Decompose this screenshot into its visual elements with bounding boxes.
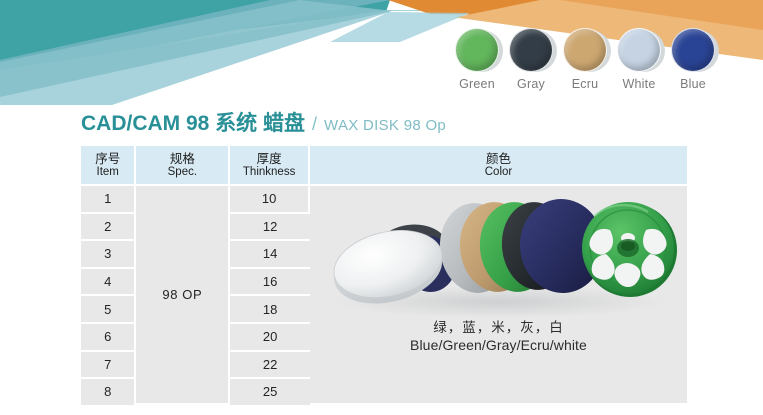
swatch-green[interactable]: Green (450, 28, 504, 91)
color-caption-cn: 绿，蓝，米，灰，白 (310, 320, 687, 337)
cell-item: 3 (81, 241, 136, 269)
page-title-en: WAX DISK 98 Op (324, 117, 446, 134)
product-spec-slide: Green Gray Ecru White (0, 0, 763, 415)
cell-item: 7 (81, 352, 136, 380)
table-header: 序号 Item 规格 Spec. 厚度 Thinkness 颜色 Color (81, 146, 687, 186)
swatch-white[interactable]: White (612, 28, 666, 91)
cell-item: 8 (81, 379, 136, 405)
swatch-label: Green (450, 77, 504, 91)
header-item-en: Item (81, 166, 134, 179)
swatch-disk-icon (671, 28, 715, 72)
header-thickness-cn: 厚度 (230, 152, 308, 166)
cell-color: 绿，蓝，米，灰，白 Blue/Green/Gray/Ecru/white (310, 186, 687, 405)
cell-thickness: 16 (230, 269, 310, 297)
color-caption-en: Blue/Green/Gray/Ecru/white (310, 337, 687, 355)
swatch-gray[interactable]: Gray (504, 28, 558, 91)
cell-item: 1 (81, 186, 136, 214)
swatch-disk-icon (509, 28, 553, 72)
swatch-disk-wrap (671, 28, 715, 72)
specification-table: 序号 Item 规格 Spec. 厚度 Thinkness 颜色 Color (81, 146, 687, 405)
color-stage: 绿，蓝，米，灰，白 Blue/Green/Gray/Ecru/white (310, 192, 687, 397)
swatch-disk-icon (617, 28, 661, 72)
cell-thickness: 18 (230, 296, 310, 324)
cell-item: 5 (81, 296, 136, 324)
header-item-cn: 序号 (81, 152, 134, 166)
swatch-disk-wrap (617, 28, 661, 72)
cell-thickness: 14 (230, 241, 310, 269)
swatch-label: White (612, 77, 666, 91)
wax-disk-photo (310, 192, 687, 322)
header-spec: 规格 Spec. (136, 146, 230, 186)
swatch-disk-icon (455, 28, 499, 72)
swatch-disk-wrap (563, 28, 607, 72)
swatch-disk-wrap (455, 28, 499, 72)
table-header-row: 序号 Item 规格 Spec. 厚度 Thinkness 颜色 Color (81, 146, 687, 186)
header-color: 颜色 Color (310, 146, 687, 186)
cell-item: 2 (81, 214, 136, 242)
header-item: 序号 Item (81, 146, 136, 186)
color-swatch-row: Green Gray Ecru White (450, 28, 720, 100)
header-color-cn: 颜色 (310, 152, 687, 166)
title-separator: / (312, 114, 317, 135)
cell-item: 4 (81, 269, 136, 297)
swatch-label: Gray (504, 77, 558, 91)
header-spec-en: Spec. (136, 166, 228, 179)
table-body: 1 98 OP 10 (81, 186, 687, 405)
cell-thickness: 12 (230, 214, 310, 242)
cell-thickness: 10 (230, 186, 310, 214)
table-row: 1 98 OP 10 (81, 186, 687, 214)
cell-item: 6 (81, 324, 136, 352)
cell-spec: 98 OP (136, 186, 230, 405)
swatch-disk-wrap (509, 28, 553, 72)
header-thickness-en: Thinkness (230, 166, 308, 179)
header-color-en: Color (310, 166, 687, 179)
swatch-blue[interactable]: Blue (666, 28, 720, 91)
swatch-label: Ecru (558, 77, 612, 91)
color-caption: 绿，蓝，米，灰，白 Blue/Green/Gray/Ecru/white (310, 320, 687, 354)
page-title-cn: CAD/CAM 98 系统 蜡盘 (81, 107, 305, 137)
header-thickness: 厚度 Thinkness (230, 146, 310, 186)
swatch-disk-icon (563, 28, 607, 72)
cell-thickness: 25 (230, 379, 310, 405)
swatch-label: Blue (666, 77, 720, 91)
cell-thickness: 22 (230, 352, 310, 380)
cell-thickness: 20 (230, 324, 310, 352)
header-spec-cn: 规格 (136, 152, 228, 166)
swatch-ecru[interactable]: Ecru (558, 28, 612, 91)
page-title: CAD/CAM 98 系统 蜡盘 / WAX DISK 98 Op (81, 107, 446, 135)
disk-green-milled (582, 202, 677, 297)
